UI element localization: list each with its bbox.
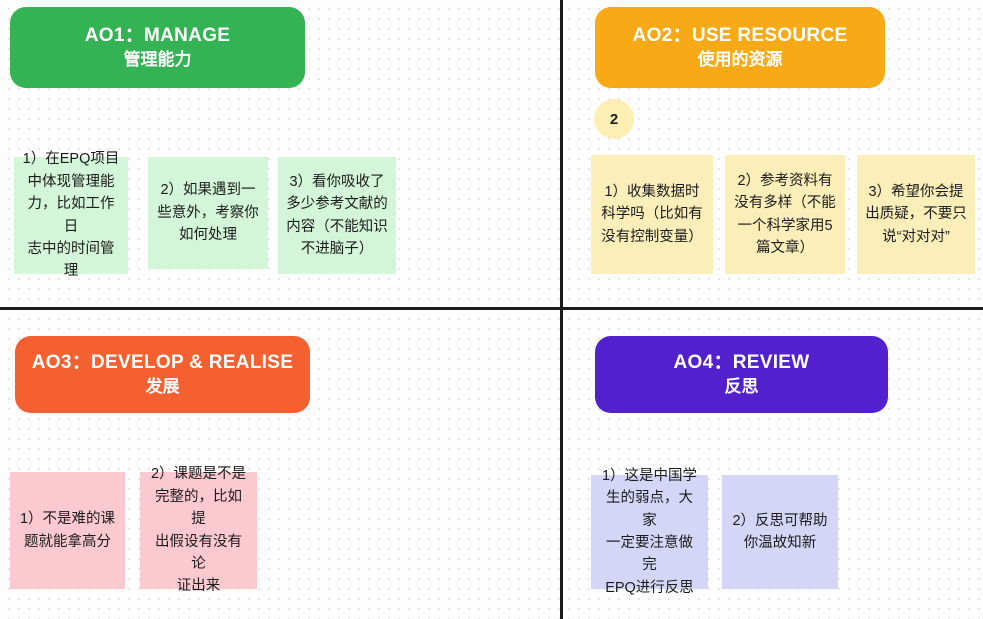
sticky-note-ao2-3[interactable]: 3）希望你会提 出质疑，不要只 说“对对对” [857, 155, 975, 274]
header-card-ao2-title-zh: 使用的资源 [698, 49, 783, 71]
sticky-note-ao4-1[interactable]: 1）这是中国学 生的弱点，大家 一定要注意做完 EPQ进行反思 [591, 475, 708, 589]
header-card-ao2[interactable]: AO2：USE RESOURCE 使用的资源 [595, 7, 885, 88]
header-card-ao3[interactable]: AO3：DEVELOP & REALISE 发展 [15, 336, 310, 413]
count-badge-ao2[interactable]: 2 [594, 99, 634, 139]
header-card-ao1-title-en: AO1：MANAGE [85, 24, 231, 48]
sticky-note-ao2-2[interactable]: 2）参考资料有 没有多样（不能 一个科学家用5 篇文章） [725, 155, 845, 274]
whiteboard-canvas[interactable]: AO1：MANAGE 管理能力 1）在EPQ项目 中体现管理能 力，比如工作日 … [0, 0, 983, 619]
header-card-ao4[interactable]: AO4：REVIEW 反思 [595, 336, 888, 413]
sticky-note-ao2-1[interactable]: 1）收集数据时 科学吗（比如有 没有控制变量） [591, 155, 713, 274]
sticky-note-ao4-2[interactable]: 2）反思可帮助 你温故知新 [722, 475, 838, 589]
sticky-note-ao3-2[interactable]: 2）课题是不是 完整的，比如提 出假设有没有论 证出来 [140, 472, 257, 589]
header-card-ao1-title-zh: 管理能力 [124, 49, 192, 71]
sticky-note-ao1-2[interactable]: 2）如果遇到一 些意外，考察你 如何处理 [148, 157, 268, 269]
quadrant-divider-horizontal [0, 307, 983, 310]
header-card-ao2-title-en: AO2：USE RESOURCE [633, 24, 848, 48]
header-card-ao3-title-zh: 发展 [146, 376, 180, 398]
header-card-ao3-title-en: AO3：DEVELOP & REALISE [32, 351, 293, 375]
sticky-note-ao1-3[interactable]: 3）看你吸收了 多少参考文献的 内容（不能知识 不进脑子） [278, 157, 396, 274]
header-card-ao4-title-zh: 反思 [725, 376, 759, 398]
sticky-note-ao1-1[interactable]: 1）在EPQ项目 中体现管理能 力，比如工作日 志中的时间管理 [14, 157, 128, 274]
header-card-ao4-title-en: AO4：REVIEW [673, 351, 809, 375]
sticky-note-ao3-1[interactable]: 1）不是难的课 题就能拿高分 [10, 472, 125, 589]
header-card-ao1[interactable]: AO1：MANAGE 管理能力 [10, 7, 305, 88]
